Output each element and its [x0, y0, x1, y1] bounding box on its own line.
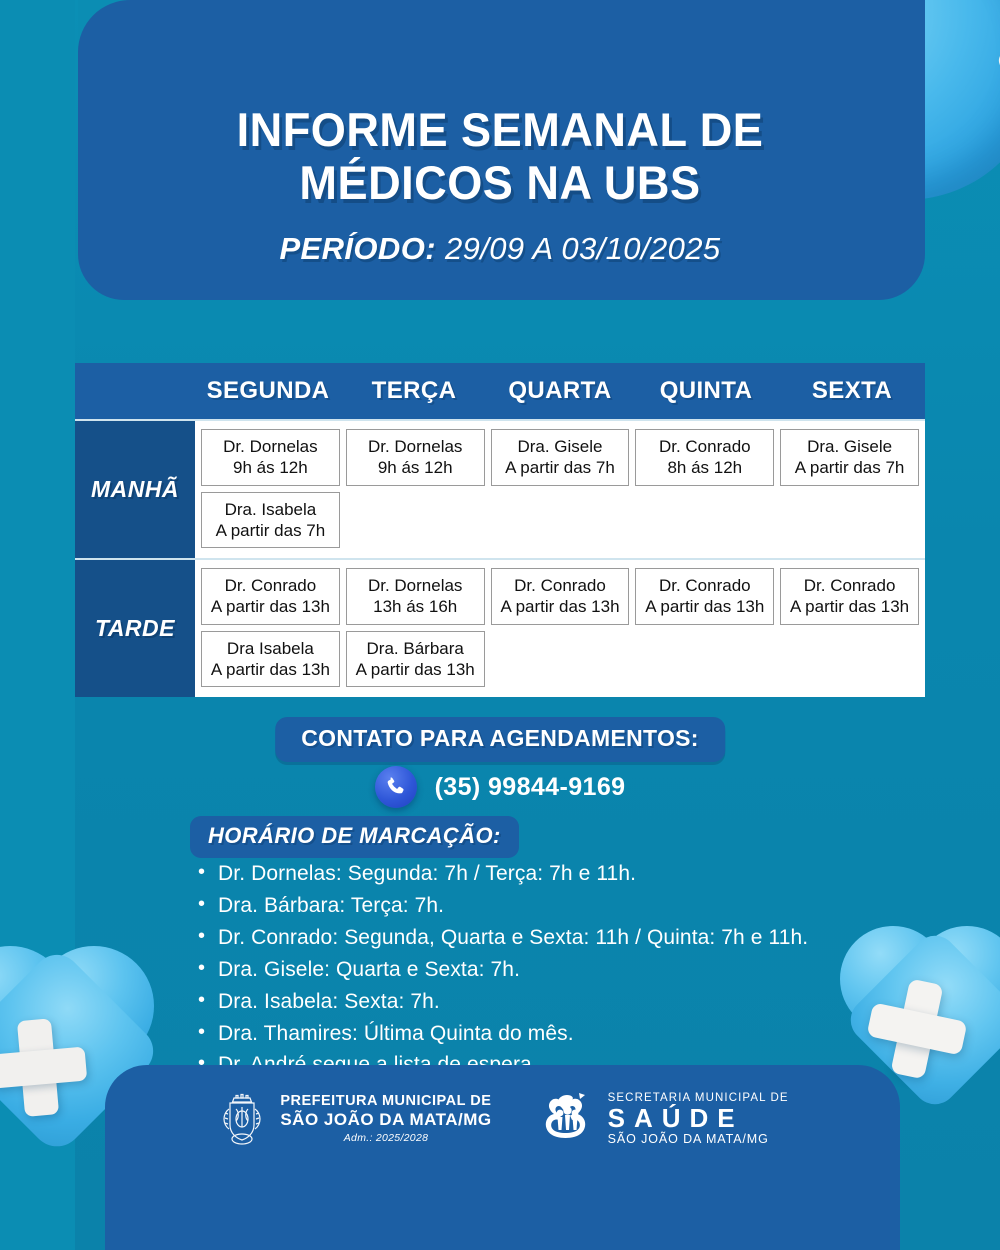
prefeitura-line-1: PREFEITURA MUNICIPAL DE: [280, 1093, 491, 1109]
contact-badge: CONTATO PARA AGENDAMENTOS:: [275, 717, 725, 762]
prefeitura-logo-group: PREFEITURA MUNICIPAL DE SÃO JOÃO DA MATA…: [216, 1089, 491, 1149]
cell-line: Dr. Conrado A partir das 13h Dr. Dornela…: [201, 568, 919, 625]
shift-time: 13h ás 16h: [373, 596, 457, 617]
shift-time: 8h ás 12h: [667, 457, 742, 478]
prefeitura-text: PREFEITURA MUNICIPAL DE SÃO JOÃO DA MATA…: [280, 1093, 491, 1144]
doctor-name: Dra. Isabela: [225, 499, 317, 520]
shift-card: Dr. Conrado 8h ás 12h: [635, 429, 774, 486]
shift-card: Dr. Conrado A partir das 13h: [780, 568, 919, 625]
schedule-table: SEGUNDA TERÇA QUARTA QUINTA SEXTA MANHÃ …: [75, 363, 925, 697]
schedule-notes-badge-label: HORÁRIO DE MARCAÇÃO:: [208, 823, 501, 848]
schedule-cell-manha-terca-2: [346, 492, 485, 549]
period-label: PERÍODO:: [279, 231, 436, 266]
schedule-cell-tarde-terca-2: Dra. Bárbara A partir das 13h: [346, 631, 485, 688]
page-title-line-2: MÉDICOS NA UBS: [20, 157, 980, 210]
schedule-cell-manha-sexta-2: [780, 492, 919, 549]
schedule-cell-tarde-quinta-2: [635, 631, 774, 688]
table-row: TARDE Dr. Conrado A partir das 13h Dr. D…: [75, 558, 925, 697]
row-cells-manha: Dr. Dornelas 9h ás 12h Dr. Dornelas 9h á…: [195, 421, 925, 558]
shift-card: Dr. Dornelas 13h ás 16h: [346, 568, 485, 625]
shift-card: Dr. Conrado A partir das 13h: [201, 568, 340, 625]
schedule-cell-tarde-quinta-1: Dr. Conrado A partir das 13h: [635, 568, 774, 625]
shift-time: 9h ás 12h: [233, 457, 308, 478]
shift-time: 9h ás 12h: [378, 457, 453, 478]
list-item: Dra. Isabela: Sexta: 7h.: [196, 986, 808, 1018]
schedule-cell-tarde-segunda-1: Dr. Conrado A partir das 13h: [201, 568, 340, 625]
list-item: Dra. Bárbara: Terça: 7h.: [196, 890, 808, 922]
heart-hands-icon: [538, 1091, 596, 1147]
shift-time: A partir das 13h: [500, 596, 619, 617]
contact-phone-row[interactable]: (35) 99844-9169: [0, 766, 1000, 808]
shift-time: A partir das 7h: [795, 457, 905, 478]
shift-time: A partir das 13h: [211, 596, 330, 617]
schedule-cell-manha-quinta-1: Dr. Conrado 8h ás 12h: [635, 429, 774, 486]
list-item: Dra. Gisele: Quarta e Sexta: 7h.: [196, 954, 808, 986]
list-item: Dr. Dornelas: Segunda: 7h / Terça: 7h e …: [196, 858, 808, 890]
doctor-name: Dr. Conrado: [514, 575, 606, 596]
schedule-cell-manha-quarta-1: Dra. Gisele A partir das 7h: [491, 429, 630, 486]
schedule-table-body: MANHÃ Dr. Dornelas 9h ás 12h Dr. Dornela…: [75, 419, 925, 697]
doctor-name: Dr. Dornelas: [223, 436, 317, 457]
shift-card: Dr. Dornelas 9h ás 12h: [346, 429, 485, 486]
schedule-cell-manha-sexta-1: Dra. Gisele A partir das 7h: [780, 429, 919, 486]
doctor-name: Dra. Bárbara: [367, 638, 464, 659]
shift-time: A partir das 13h: [211, 659, 330, 680]
doctor-name: Dr. Conrado: [804, 575, 896, 596]
shift-card: Dr. Dornelas 9h ás 12h: [201, 429, 340, 486]
column-header-terca: TERÇA: [341, 377, 487, 405]
schedule-notes-list: Dr. Dornelas: Segunda: 7h / Terça: 7h e …: [196, 858, 808, 1081]
row-cells-tarde: Dr. Conrado A partir das 13h Dr. Dornela…: [195, 560, 925, 697]
column-header-segunda: SEGUNDA: [195, 377, 341, 405]
saude-text: SECRETARIA MUNICIPAL DE SAÚDE SÃO JOÃO D…: [608, 1092, 789, 1147]
footer-logos: PREFEITURA MUNICIPAL DE SÃO JOÃO DA MATA…: [105, 1089, 900, 1149]
schedule-cell-tarde-segunda-2: Dra Isabela A partir das 13h: [201, 631, 340, 688]
doctor-name: Dr. Conrado: [225, 575, 317, 596]
saude-logo-group: SECRETARIA MUNICIPAL DE SAÚDE SÃO JOÃO D…: [538, 1091, 789, 1147]
column-header-quarta: QUARTA: [487, 377, 633, 405]
shift-time: A partir das 7h: [216, 520, 326, 541]
doctor-name: Dr. Dornelas: [368, 575, 462, 596]
shift-card: Dr. Conrado A partir das 13h: [491, 568, 630, 625]
saude-line-3: SÃO JOÃO DA MATA/MG: [608, 1133, 789, 1147]
cell-line: Dra. Isabela A partir das 7h: [201, 492, 919, 549]
shift-card: Dra Isabela A partir das 13h: [201, 631, 340, 688]
municipal-crest-icon: [216, 1089, 268, 1149]
page-title-block: INFORME SEMANAL DE MÉDICOS NA UBS PERÍOD…: [0, 104, 1000, 267]
shift-card: Dra. Gisele A partir das 7h: [780, 429, 919, 486]
schedule-cell-manha-quinta-2: [635, 492, 774, 549]
schedule-cell-tarde-sexta-1: Dr. Conrado A partir das 13h: [780, 568, 919, 625]
shift-time: A partir das 13h: [356, 659, 475, 680]
column-header-sexta: SEXTA: [779, 377, 925, 405]
schedule-cell-manha-terca-1: Dr. Dornelas 9h ás 12h: [346, 429, 485, 486]
schedule-cell-tarde-quarta-1: Dr. Conrado A partir das 13h: [491, 568, 630, 625]
prefeitura-line-2: SÃO JOÃO DA MATA/MG: [280, 1110, 491, 1129]
shift-card: Dra. Isabela A partir das 7h: [201, 492, 340, 549]
schedule-cell-manha-quarta-2: [491, 492, 630, 549]
doctor-name: Dr. Dornelas: [368, 436, 462, 457]
doctor-name: Dra. Gisele: [517, 436, 602, 457]
page-title-line-1: INFORME SEMANAL DE: [20, 104, 980, 157]
shift-card: Dr. Conrado A partir das 13h: [635, 568, 774, 625]
doctor-name: Dra. Gisele: [807, 436, 892, 457]
schedule-cell-manha-segunda-2: Dra. Isabela A partir das 7h: [201, 492, 340, 549]
footer-panel: PREFEITURA MUNICIPAL DE SÃO JOÃO DA MATA…: [105, 1065, 900, 1250]
phone-number[interactable]: (35) 99844-9169: [435, 773, 626, 802]
contact-badge-label: CONTATO PARA AGENDAMENTOS:: [301, 725, 699, 751]
list-item: Dra. Thamires: Última Quinta do mês.: [196, 1018, 808, 1050]
column-header-quinta: QUINTA: [633, 377, 779, 405]
schedule-cell-manha-segunda-1: Dr. Dornelas 9h ás 12h: [201, 429, 340, 486]
row-label-tarde: TARDE: [75, 560, 195, 697]
schedule-notes-badge: HORÁRIO DE MARCAÇÃO:: [190, 816, 519, 858]
cell-line: Dra Isabela A partir das 13h Dra. Bárbar…: [201, 631, 919, 688]
table-row: MANHÃ Dr. Dornelas 9h ás 12h Dr. Dornela…: [75, 419, 925, 558]
schedule-cell-tarde-terca-1: Dr. Dornelas 13h ás 16h: [346, 568, 485, 625]
header-corner-notch: [78, 0, 153, 78]
period-value: 29/09 A 03/10/2025: [445, 231, 721, 266]
phone-icon[interactable]: [375, 766, 417, 808]
doctor-name: Dr. Conrado: [659, 575, 751, 596]
period-line: PERÍODO: 29/09 A 03/10/2025: [0, 231, 1000, 267]
doctor-name: Dr. Conrado: [659, 436, 751, 457]
shift-card: Dra. Bárbara A partir das 13h: [346, 631, 485, 688]
shift-time: A partir das 7h: [505, 457, 615, 478]
list-item: Dr. Conrado: Segunda, Quarta e Sexta: 11…: [196, 922, 808, 954]
shift-time: A partir das 13h: [645, 596, 764, 617]
shift-time: A partir das 13h: [790, 596, 909, 617]
cell-line: Dr. Dornelas 9h ás 12h Dr. Dornelas 9h á…: [201, 429, 919, 486]
prefeitura-line-3: Adm.: 2025/2028: [280, 1133, 491, 1145]
schedule-cell-tarde-quarta-2: [491, 631, 630, 688]
schedule-table-header: SEGUNDA TERÇA QUARTA QUINTA SEXTA: [75, 363, 925, 419]
schedule-cell-tarde-sexta-2: [780, 631, 919, 688]
shift-card: Dra. Gisele A partir das 7h: [491, 429, 630, 486]
saude-line-2: SAÚDE: [608, 1104, 789, 1133]
row-label-manha: MANHÃ: [75, 421, 195, 558]
doctor-name: Dra Isabela: [227, 638, 314, 659]
